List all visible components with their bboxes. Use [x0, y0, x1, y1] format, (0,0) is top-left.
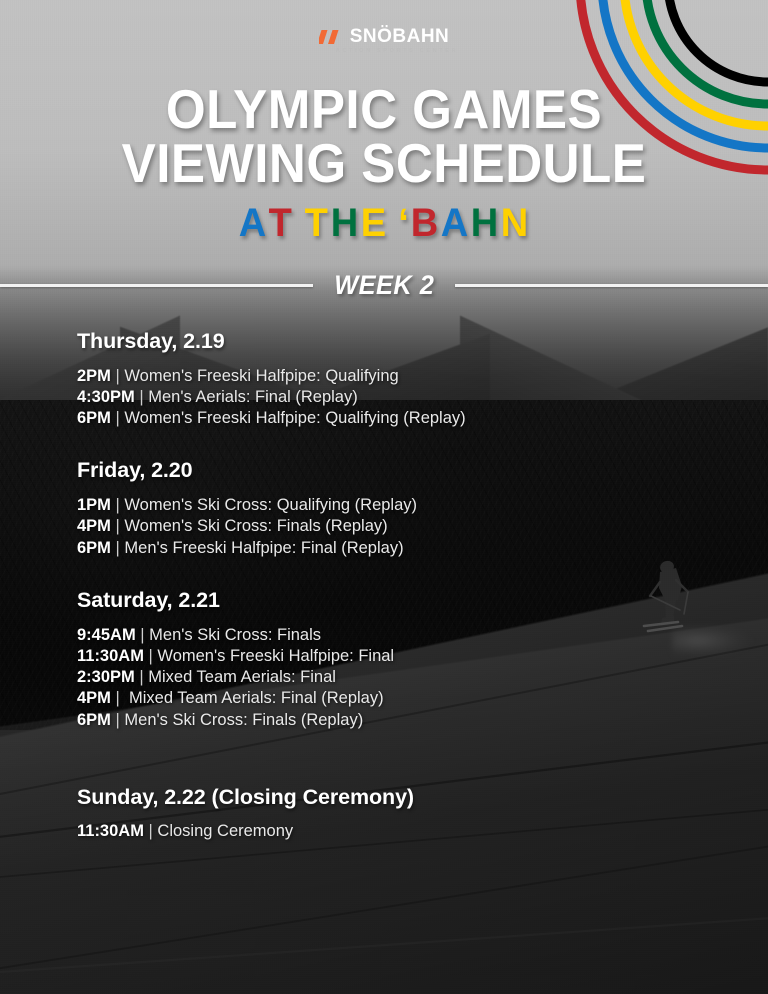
event-time: 11:30AM [77, 822, 144, 840]
page-subtitle: ATTHE‘BAHN [0, 203, 768, 243]
event-description: Men's Ski Cross: Finals [149, 626, 321, 644]
event-separator: | [111, 367, 124, 385]
subtitle-letter-9: N [501, 203, 529, 243]
event-description: Women's Freeski Halfpipe: Qualifying [124, 367, 398, 385]
subtitle-letter-5: ‘ [399, 203, 411, 243]
logo-tagline: ACTION SPORTS CENTER [336, 49, 459, 55]
event-separator: | [144, 822, 157, 840]
schedule-event: 2PM | Women's Freeski Halfpipe: Qualifyi… [77, 366, 728, 387]
event-separator: | [136, 626, 149, 644]
event-separator: | [111, 496, 124, 514]
subtitle-letter-6: B [411, 203, 439, 243]
schedule-event: 11:30AM | Women's Freeski Halfpipe: Fina… [77, 646, 728, 667]
event-separator: | [111, 517, 124, 535]
schedule-day-thursday: Thursday, 2.192PM | Women's Freeski Half… [77, 330, 728, 429]
event-description: Mixed Team Aerials: Final [148, 668, 336, 686]
schedule-event: 6PM | Men's Ski Cross: Finals (Replay) [77, 710, 728, 731]
event-time: 4PM [77, 517, 111, 535]
event-time: 9:45AM [77, 626, 136, 644]
event-time: 2:30PM [77, 668, 135, 686]
event-description: Men's Ski Cross: Finals (Replay) [124, 711, 363, 729]
snobahn-logo: SNÖBAHN ACTION SPORTS CENTER [0, 27, 768, 55]
event-separator: | [135, 668, 148, 686]
event-description: Women's Ski Cross: Finals (Replay) [124, 517, 387, 535]
event-description: Mixed Team Aerials: Final (Replay) [129, 689, 384, 707]
schedule-day-sunday: Sunday, 2.22 (Closing Ceremony)11:30AM |… [77, 786, 728, 842]
day-heading: Thursday, 2.19 [77, 330, 728, 354]
event-separator: | [135, 388, 148, 406]
day-heading: Sunday, 2.22 (Closing Ceremony) [77, 786, 728, 810]
event-separator: | [111, 539, 124, 557]
subtitle-letter-2: T [305, 203, 329, 243]
event-time: 4:30PM [77, 388, 135, 406]
poster-content: SNÖBAHN ACTION SPORTS CENTER OLYMPIC GAM… [0, 0, 768, 994]
subtitle-letter-8: H [471, 203, 499, 243]
event-description: Women's Freeski Halfpipe: Final [157, 647, 394, 665]
day-heading: Saturday, 2.21 [77, 589, 728, 613]
divider-rule-left [0, 284, 313, 287]
schedule-event: 6PM | Men's Freeski Halfpipe: Final (Rep… [77, 538, 728, 559]
event-separator: | [111, 711, 124, 729]
event-description: Women's Ski Cross: Qualifying (Replay) [124, 496, 417, 514]
schedule-day-saturday: Saturday, 2.219:45AM | Men's Ski Cross: … [77, 589, 728, 731]
event-time: 2PM [77, 367, 111, 385]
event-separator: | [144, 647, 157, 665]
schedule-list: Thursday, 2.192PM | Women's Freeski Half… [77, 330, 728, 842]
event-separator: | [111, 689, 129, 707]
event-description: Men's Aerials: Final (Replay) [148, 388, 357, 406]
event-separator: | [111, 409, 124, 427]
schedule-event: 2:30PM | Mixed Team Aerials: Final [77, 667, 728, 688]
event-time: 6PM [77, 711, 111, 729]
schedule-event: 4:30PM | Men's Aerials: Final (Replay) [77, 387, 728, 408]
title-line-1: OLYMPIC GAMES [27, 82, 741, 136]
schedule-event: 1PM | Women's Ski Cross: Qualifying (Rep… [77, 495, 728, 516]
schedule-event: 4PM | Women's Ski Cross: Finals (Replay) [77, 516, 728, 537]
event-time: 11:30AM [77, 647, 144, 665]
event-description: Women's Freeski Halfpipe: Qualifying (Re… [124, 409, 465, 427]
schedule-event: 6PM | Women's Freeski Halfpipe: Qualifyi… [77, 408, 728, 429]
event-time: 6PM [77, 409, 111, 427]
event-description: Men's Freeski Halfpipe: Final (Replay) [124, 539, 403, 557]
page-title: OLYMPIC GAMES VIEWING SCHEDULE [0, 82, 768, 191]
subtitle-letter-7: A [441, 203, 469, 243]
logo-wordmark: SNÖBAHN [350, 27, 450, 46]
week-divider: WEEK 2 [0, 272, 768, 299]
event-description: Closing Ceremony [157, 822, 293, 840]
title-line-2: VIEWING SCHEDULE [27, 136, 741, 190]
logo-row: SNÖBAHN [319, 27, 450, 46]
week-label: WEEK 2 [334, 272, 434, 299]
schedule-event: 4PM | Mixed Team Aerials: Final (Replay) [77, 688, 728, 709]
subtitle-letter-0: A [239, 203, 267, 243]
subtitle-letter-1: T [269, 203, 293, 243]
subtitle-letter-3: H [330, 203, 358, 243]
schedule-day-friday: Friday, 2.201PM | Women's Ski Cross: Qua… [77, 459, 728, 558]
day-heading: Friday, 2.20 [77, 459, 728, 483]
schedule-event: 9:45AM | Men's Ski Cross: Finals [77, 625, 728, 646]
event-time: 4PM [77, 689, 111, 707]
event-time: 1PM [77, 496, 111, 514]
event-time: 6PM [77, 539, 111, 557]
olympic-schedule-poster: SNÖBAHN ACTION SPORTS CENTER OLYMPIC GAM… [0, 0, 768, 994]
schedule-event: 11:30AM | Closing Ceremony [77, 821, 728, 842]
subtitle-letter-4: E [360, 203, 386, 243]
divider-rule-right [455, 284, 768, 287]
snobahn-mark-icon [319, 28, 343, 46]
